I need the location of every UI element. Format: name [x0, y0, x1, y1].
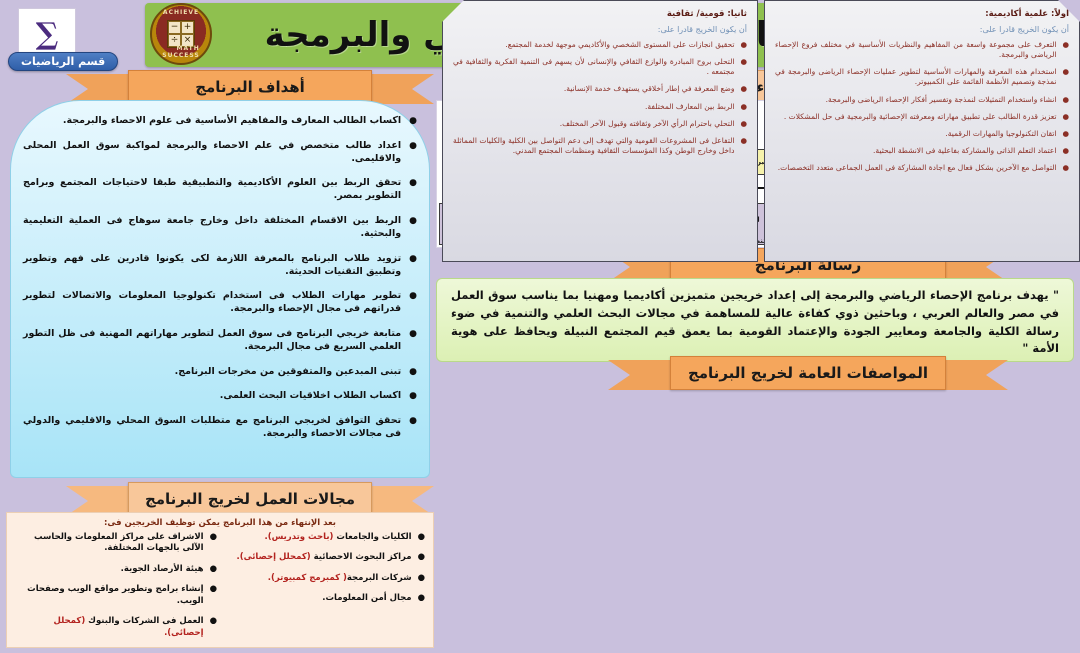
jobs-list-left: ●الاشراف على مراكز المعلومات والحاسب الآ…: [15, 532, 217, 639]
list-item: ●الربط بين الاقسام المختلفة داخل وخارج ج…: [23, 215, 417, 241]
job-text: هيئة الأرصاد الجوية.: [15, 564, 204, 575]
seal-bottom-text: MATH SUCCESS: [162, 45, 199, 59]
list-item: ●استخدام هذه المعرفة والمهارات الأساسية …: [775, 67, 1069, 87]
ribbon-tail-right: [946, 360, 1008, 390]
specs-academic-list: ●التعرف على مجموعة واسعة من المفاهيم وال…: [775, 40, 1069, 173]
bullet-icon: ●: [210, 616, 217, 627]
list-item: ●اكساب الطالب المعارف والمفاهيم الأساسية…: [23, 115, 417, 128]
job-text: العمل فى الشركات والبنوك (كمحلل إحصائى).: [15, 616, 204, 639]
spec-text: التعرف على مجموعة واسعة من المفاهيم والن…: [775, 40, 1056, 60]
list-item: ●مراكز البحوث الاحصائية (كمحلل إحصائى).: [223, 552, 425, 563]
spec-text: اتقان التكنولوجيا والمهارات الرقمية.: [775, 129, 1056, 139]
list-item: ●التفاعل فى المشروعات القومية والتي تهدف…: [453, 136, 747, 156]
badge-math-department: قسم الرياضيات: [8, 52, 118, 71]
specs-banner: المواصفات العامة لخريج البرنامج: [608, 360, 1008, 390]
bullet-icon: ●: [1062, 67, 1069, 77]
list-item: ●هيئة الأرصاد الجوية.: [15, 564, 217, 575]
mission-panel: " يهدف برنامج الإحصاء الرياضي والبرمجة إ…: [436, 278, 1074, 362]
job-note: (كمحلل إحصائى).: [236, 552, 310, 562]
objective-text: الربط بين الاقسام المختلفة داخل وخارج جا…: [23, 215, 401, 241]
bullet-icon: ●: [1062, 163, 1069, 173]
list-item: ●تعزيز قدرة الطالب على تطبيق مهاراته ومع…: [775, 112, 1069, 122]
bullet-icon: ●: [740, 57, 747, 67]
bullet-icon: ●: [409, 390, 417, 402]
job-text: مجال أمن المعلومات.: [223, 593, 412, 604]
objective-text: اكساب الطلاب اخلاقيات البحث العلمى.: [23, 390, 401, 403]
list-item: ●مجال أمن المعلومات.: [223, 593, 425, 604]
bullet-icon: ●: [210, 532, 217, 543]
objectives-list: ●اكساب الطالب المعارف والمفاهيم الأساسية…: [23, 115, 417, 441]
bullet-icon: ●: [1062, 40, 1069, 50]
list-item: ●التعرف على مجموعة واسعة من المفاهيم وال…: [775, 40, 1069, 60]
specs-card-cultural: ثانيا: قومية/ ثقافية أن يكون الخريج قادر…: [442, 0, 758, 262]
objectives-panel: ●اكساب الطالب المعارف والمفاهيم الأساسية…: [10, 100, 430, 478]
job-text: شركات البرمجة( كمبرمج كمبيوتر).: [223, 573, 412, 584]
jobs-panel: بعد الإنتهاء من هذا البرنامج يمكن توظيف …: [6, 512, 434, 648]
bullet-icon: ●: [418, 532, 425, 543]
specs-card-academic: اولاً: علمية أكاديمية: أن يكون الخريج قا…: [764, 0, 1080, 262]
list-item: ●تحقق الربط بين العلوم الأكاديمية والتطب…: [23, 177, 417, 203]
objective-text: تطوير مهارات الطلاب فى استخدام تكنولوجيا…: [23, 290, 401, 316]
list-item: ●وضع المعرفة في إطار أخلاقي يستهدف خدمة …: [453, 84, 747, 94]
list-item: ●اكساب الطلاب اخلاقيات البحث العلمى.: [23, 390, 417, 403]
list-item: ●تبنى المبدعين والمتفوقين من مخرجات البر…: [23, 366, 417, 379]
jobs-column-right: ●الكليات والجامعات (باحث وتدريس). ●مراكز…: [223, 532, 425, 648]
seal-top-text: ACHIEVE: [163, 9, 199, 16]
list-item: ●الكليات والجامعات (باحث وتدريس).: [223, 532, 425, 543]
bullet-icon: ●: [409, 253, 417, 265]
spec-text: اعتماد التعلم الذاتى والمشاركة بفاعلية ف…: [775, 146, 1056, 156]
bullet-icon: ●: [740, 136, 747, 146]
sigma-logo-icon: ∑: [36, 17, 59, 52]
bullet-icon: ●: [210, 564, 217, 575]
seal-symbols: + − × ÷: [167, 20, 195, 48]
spec-text: تعزيز قدرة الطالب على تطبيق مهاراته ومعر…: [775, 112, 1056, 122]
job-label: هيئة الأرصاد الجوية.: [121, 564, 204, 574]
jobs-column-left: ●الاشراف على مراكز المعلومات والحاسب الآ…: [15, 532, 217, 648]
math-success-seal-icon: ACHIEVE + − × ÷ MATH SUCCESS: [150, 3, 212, 65]
list-item: ●التحلي باحترام الرأي الآخر وثقافته وقبو…: [453, 119, 747, 129]
list-item: ●تطوير مهارات الطلاب فى استخدام تكنولوجي…: [23, 290, 417, 316]
list-item: ●التحلى بروح المبادرة والوازع الثقافي وا…: [453, 57, 747, 77]
bullet-icon: ●: [1062, 146, 1069, 156]
bullet-icon: ●: [418, 593, 425, 604]
ribbon-tail-left: [608, 360, 670, 390]
list-item: ●اتقان التكنولوجيا والمهارات الرقمية.: [775, 129, 1069, 139]
list-item: ●تزويد طلاب البرنامج بالمعرفة اللازمة لك…: [23, 253, 417, 279]
spec-text: تحقيق انجازات على المستوى الشخصي والأكاد…: [453, 40, 734, 50]
bullet-icon: ●: [740, 40, 747, 50]
specs-academic-subtitle: أن يكون الخريج قادرا على:: [775, 25, 1069, 34]
list-item: ●انشاء واستخدام التمثيلات لنمذجة وتفسير …: [775, 95, 1069, 105]
bullet-icon: ●: [210, 584, 217, 595]
jobs-columns: ●الكليات والجامعات (باحث وتدريس). ●مراكز…: [7, 532, 433, 648]
bullet-icon: ●: [418, 573, 425, 584]
spec-text: التواصل مع الآخرين بشكل فعال مع اجادة ال…: [775, 163, 1056, 173]
bullet-icon: ●: [740, 102, 747, 112]
job-note: ( كمبرمج كمبيوتر).: [268, 573, 347, 583]
list-item: ●تحقيق انجازات على المستوى الشخصي والأكا…: [453, 40, 747, 50]
objective-text: تزويد طلاب البرنامج بالمعرفة اللازمة لكى…: [23, 253, 401, 279]
bullet-icon: ●: [409, 415, 417, 427]
objectives-banner-label: أهداف البرنامج: [128, 70, 372, 104]
spec-text: انشاء واستخدام التمثيلات لنمذجة وتفسير أ…: [775, 95, 1056, 105]
bullet-icon: ●: [409, 115, 417, 127]
job-label: إنشاء برامج وتطوير مواقع الويب وصفحات ال…: [27, 584, 203, 605]
objective-text: اعداد طالب متخصص في علم الاحصاء والبرمجة…: [23, 140, 401, 166]
list-item: ●شركات البرمجة( كمبرمج كمبيوتر).: [223, 573, 425, 584]
bullet-icon: ●: [409, 215, 417, 227]
ribbon-tail-right: [372, 74, 434, 104]
bullet-icon: ●: [409, 366, 417, 378]
objective-text: تحقق الربط بين العلوم الأكاديمية والتطبي…: [23, 177, 401, 203]
specs-cultural-title: ثانيا: قومية/ ثقافية: [453, 9, 747, 19]
bullet-icon: ●: [1062, 95, 1069, 105]
bullet-icon: ●: [409, 290, 417, 302]
specs-academic-title: اولاً: علمية أكاديمية:: [775, 9, 1069, 19]
specs-banner-label: المواصفات العامة لخريج البرنامج: [670, 356, 946, 390]
jobs-intro-text: بعد الإنتهاء من هذا البرنامج يمكن توظيف …: [7, 513, 433, 532]
specs-cultural-subtitle: أن يكون الخريج قادرا على:: [453, 25, 747, 34]
job-label: الاشراف على مراكز المعلومات والحاسب الآل…: [34, 532, 204, 553]
job-label: العمل فى الشركات والبنوك: [85, 616, 203, 626]
spec-text: وضع المعرفة في إطار أخلاقي يستهدف خدمة ا…: [453, 84, 734, 94]
list-item: ●الاشراف على مراكز المعلومات والحاسب الآ…: [15, 532, 217, 555]
bullet-icon: ●: [1062, 112, 1069, 122]
bullet-icon: ●: [409, 140, 417, 152]
job-text: مراكز البحوث الاحصائية (كمحلل إحصائى).: [223, 552, 412, 563]
list-item: ●العمل فى الشركات والبنوك (كمحلل إحصائى)…: [15, 616, 217, 639]
job-label: شركات البرمجة: [347, 573, 412, 583]
jobs-banner-label: مجالات العمل لخريج البرنامج: [128, 482, 372, 516]
spec-text: التحلى بروح المبادرة والوازع الثقافي وال…: [453, 57, 734, 77]
bullet-icon: ●: [409, 177, 417, 189]
jobs-list-right: ●الكليات والجامعات (باحث وتدريس). ●مراكز…: [223, 532, 425, 605]
job-label: الكليات والجامعات: [333, 532, 411, 542]
poster-root: ∑ قسم الرياضيات ACHIEVE + − × ÷ MATH SUC…: [0, 0, 1080, 653]
spec-text: استخدام هذه المعرفة والمهارات الأساسية ل…: [775, 67, 1056, 87]
job-note: (باحث وتدريس).: [264, 532, 333, 542]
spec-text: الربط بين المعارف المختلفة.: [453, 102, 734, 112]
objective-text: متابعة خريجي البرنامج فى سوق العمل لتطوي…: [23, 328, 401, 354]
job-label: مجال أمن المعلومات.: [322, 593, 411, 603]
list-item: ●إنشاء برامج وتطوير مواقع الويب وصفحات ا…: [15, 584, 217, 607]
objective-text: تبنى المبدعين والمتفوقين من مخرجات البرن…: [23, 366, 401, 379]
job-text: إنشاء برامج وتطوير مواقع الويب وصفحات ال…: [15, 584, 204, 607]
list-item: ●متابعة خريجي البرنامج فى سوق العمل لتطو…: [23, 328, 417, 354]
list-item: ●الربط بين المعارف المختلفة.: [453, 102, 747, 112]
bullet-icon: ●: [1062, 129, 1069, 139]
bullet-icon: ●: [409, 328, 417, 340]
list-item: ●التواصل مع الآخرين بشكل فعال مع اجادة ا…: [775, 163, 1069, 173]
seal-plus-icon: +: [181, 21, 194, 34]
job-text: الاشراف على مراكز المعلومات والحاسب الآل…: [15, 532, 204, 555]
list-item: ●تحقق التوافق لخريجي البرنامج مع متطلبات…: [23, 415, 417, 441]
bullet-icon: ●: [418, 552, 425, 563]
bullet-icon: ●: [740, 119, 747, 129]
job-label: مراكز البحوث الاحصائية: [311, 552, 412, 562]
list-item: ●اعتماد التعلم الذاتى والمشاركة بفاعلية …: [775, 146, 1069, 156]
bullet-icon: ●: [740, 84, 747, 94]
job-text: الكليات والجامعات (باحث وتدريس).: [223, 532, 412, 543]
specs-cultural-list: ●تحقيق انجازات على المستوى الشخصي والأكا…: [453, 40, 747, 156]
list-item: ●اعداد طالب متخصص في علم الاحصاء والبرمج…: [23, 140, 417, 166]
seal-minus-icon: −: [168, 21, 181, 34]
objective-text: تحقق التوافق لخريجي البرنامج مع متطلبات …: [23, 415, 401, 441]
mission-text: " يهدف برنامج الإحصاء الرياضي والبرمجة إ…: [451, 287, 1059, 358]
objective-text: اكساب الطالب المعارف والمفاهيم الأساسية …: [23, 115, 401, 128]
spec-text: التفاعل فى المشروعات القومية والتي تهدف …: [453, 136, 734, 156]
spec-text: التحلي باحترام الرأي الآخر وثقافته وقبول…: [453, 119, 734, 129]
